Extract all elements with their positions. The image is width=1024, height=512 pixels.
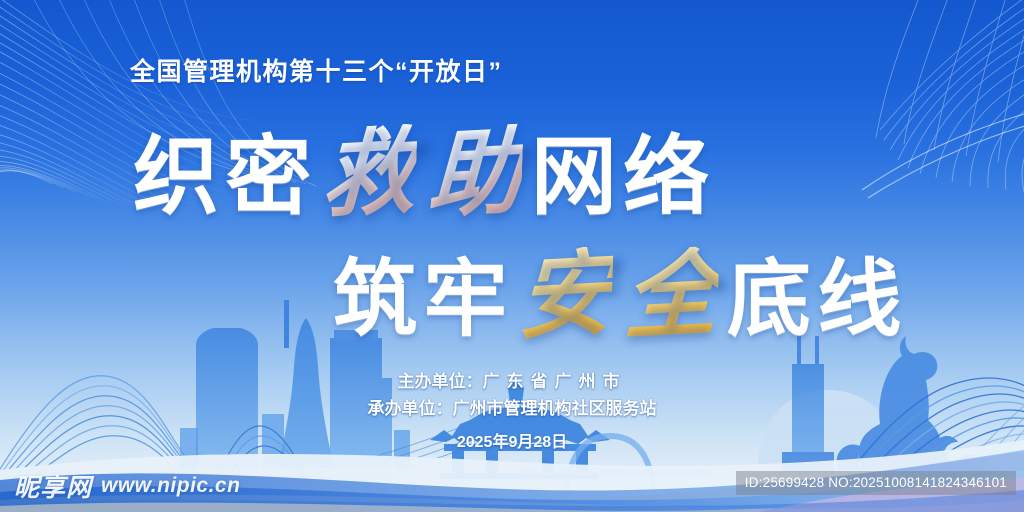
stock-id-bar: ID:25699428 NO:20251008141824346101 bbox=[736, 471, 1016, 495]
organizer-block: 主办单位：广东省广州市 承办单位：广州市管理机构社区服务站 2025年9月28日 bbox=[0, 368, 1024, 452]
host-value: 广东省广州市 bbox=[483, 372, 627, 391]
title-line-2: 筑 牢 安 全 底 线 bbox=[333, 248, 903, 347]
title-char: 密 bbox=[225, 132, 313, 222]
poster-canvas: 全国管理机构第十三个“开放日” 织 密 救 助 网 络 筑 牢 安 全 底 线 … bbox=[0, 0, 1024, 512]
coorganizer-label: 承办单位： bbox=[368, 399, 453, 418]
title-char: 线 bbox=[817, 257, 903, 345]
watermark-brand: 昵享网 bbox=[14, 468, 92, 504]
host-line: 主办单位：广东省广州市 bbox=[0, 368, 1024, 395]
title-line-1: 织 密 救 助 网 络 bbox=[133, 126, 711, 225]
coorganizer-value: 广州市管理机构社区服务站 bbox=[453, 399, 657, 418]
coorganizer-line: 承办单位：广州市管理机构社区服务站 bbox=[0, 395, 1024, 422]
title-char: 网 bbox=[531, 132, 619, 222]
title-char: 牢 bbox=[423, 257, 509, 345]
title-char: 络 bbox=[623, 132, 711, 222]
title-char: 筑 bbox=[333, 257, 419, 345]
title-char-brush: 救 bbox=[320, 123, 417, 227]
host-label: 主办单位： bbox=[398, 372, 483, 391]
title-char-brush: 安 bbox=[516, 245, 613, 349]
watermark-url: www.nipic.cn bbox=[101, 474, 240, 498]
watermark: 昵享网 www.nipic.cn bbox=[14, 468, 240, 504]
title-char-brush: 全 bbox=[623, 245, 720, 349]
title-char: 底 bbox=[727, 257, 813, 345]
title-char-brush: 助 bbox=[427, 123, 524, 227]
title-char: 织 bbox=[133, 132, 221, 222]
event-date: 2025年9月28日 bbox=[0, 428, 1024, 452]
wave-lines-top-right bbox=[876, 0, 1024, 192]
header-event-label: 全国管理机构第十三个“开放日” bbox=[130, 52, 503, 88]
